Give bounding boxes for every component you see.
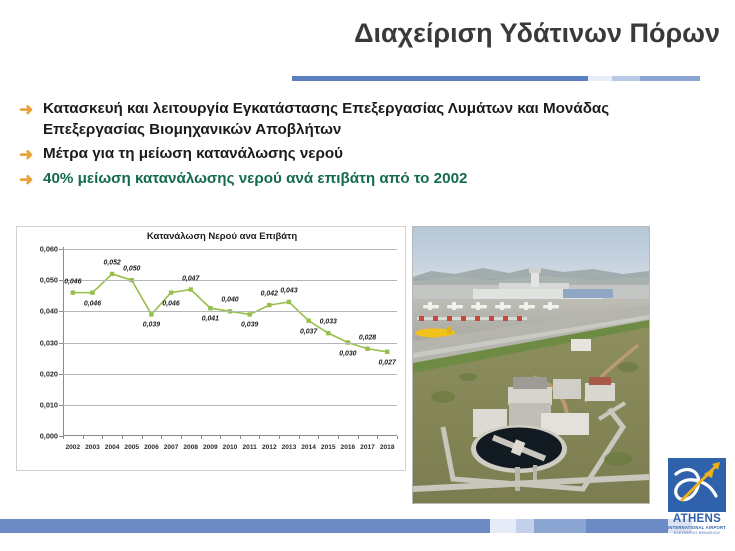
chart-gridline (63, 343, 397, 344)
chart-data-label: 0,050 (123, 266, 140, 273)
chart-y-tick-mark (59, 311, 63, 312)
chart-data-point (385, 350, 389, 354)
logo-line-eleftherios-venizelos: ΕΛΕΥΘΕΡΙΟΣ ΒΕΝΙΖΕΛΟΣ (668, 531, 726, 536)
chart-data-label: 0,039 (241, 322, 258, 329)
chart-x-tick-mark (181, 436, 182, 439)
chart-data-label: 0,037 (300, 328, 317, 335)
title-underline-rule (292, 76, 712, 81)
bullet-item-3: ➜ 40% μείωση κατανάλωσης νερού ανά επιβά… (16, 169, 666, 190)
chart-gridline (63, 311, 397, 312)
chart-gridline (63, 280, 397, 281)
chart-x-tick-label: 2003 (85, 444, 100, 451)
chart-y-tick-label: 0,030 (40, 338, 58, 347)
chart-data-point (169, 290, 173, 294)
chart-y-tick-mark (59, 249, 63, 250)
chart-x-tick-label: 2011 (242, 444, 256, 451)
bullet-list: ➜ Κατασκευή και λειτουργία Εγκατάστασης … (16, 99, 666, 194)
chart-x-tick-label: 2014 (301, 444, 316, 451)
chart-x-tick-mark (377, 436, 378, 439)
arrow-icon: ➜ (16, 99, 43, 120)
chart-x-tick-label: 2008 (183, 444, 198, 451)
chart-y-tick-label: 0,020 (40, 369, 58, 378)
chart-x-tick-label: 2016 (341, 444, 356, 451)
chart-data-label: 0,046 (84, 300, 101, 307)
chart-x-tick-mark (358, 436, 359, 439)
chart-x-tick-mark (220, 436, 221, 439)
chart-data-label: 0,042 (261, 291, 278, 298)
chart-x-tick-label: 2013 (282, 444, 297, 451)
bullet-item-2: ➜ Μέτρα για τη μείωση κατανάλωσης νερού (16, 144, 666, 165)
chart-x-tick-mark (83, 436, 84, 439)
arrow-icon: ➜ (16, 169, 43, 190)
footer-accent-bar (0, 519, 735, 533)
chart-data-point (365, 347, 369, 351)
chart-x-tick-label: 2012 (262, 444, 277, 451)
chart-x-tick-label: 2018 (380, 444, 395, 451)
slide-canvas: Διαχείριση Υδάτινων Πόρων ➜ Κατασκευή κα… (0, 0, 735, 551)
chart-data-point (71, 290, 75, 294)
chart-x-tick-label: 2015 (321, 444, 336, 451)
chart-x-tick-mark (142, 436, 143, 439)
chart-y-tick-label: 0,060 (40, 245, 58, 254)
chart-y-tick-label: 0,040 (40, 307, 58, 316)
chart-x-tick-mark (201, 436, 202, 439)
chart-y-tick-mark (59, 405, 63, 406)
chart-plot-area: 0,0600,0500,0400,0300,0200,0100,00020022… (63, 249, 397, 436)
chart-x-tick-mark (397, 436, 398, 439)
chart-data-point (287, 300, 291, 304)
chart-x-tick-mark (338, 436, 339, 439)
chart-x-tick-mark (161, 436, 162, 439)
chart-x-tick-label: 2005 (124, 444, 139, 451)
bullet-item-1-label: Κατασκευή και λειτουργία Εγκατάστασης Επ… (43, 99, 666, 140)
chart-data-label: 0,027 (379, 359, 396, 366)
chart-y-tick-label: 0,010 (40, 400, 58, 409)
chart-x-tick-mark (299, 436, 300, 439)
chart-data-label: 0,039 (143, 322, 160, 329)
chart-y-tick-mark (59, 343, 63, 344)
chart-x-tick-label: 2017 (360, 444, 375, 451)
chart-data-label: 0,046 (162, 300, 179, 307)
bullet-item-2-label: Μέτρα για τη μείωση κατανάλωσης νερού (43, 144, 343, 165)
aerial-photo (412, 226, 650, 504)
chart-x-tick-mark (279, 436, 280, 439)
chart-gridline (63, 249, 397, 250)
chart-x-tick-mark (102, 436, 103, 439)
chart-data-point (110, 272, 114, 276)
water-consumption-chart: Κατανάλωση Νερού ανα Επιβάτη 0,0600,0500… (16, 226, 406, 471)
chart-data-label: 0,046 (64, 278, 81, 285)
chart-data-point (149, 312, 153, 316)
chart-data-label: 0,030 (339, 350, 356, 357)
chart-data-point (189, 287, 193, 291)
chart-y-tick-mark (59, 374, 63, 375)
chart-data-label: 0,047 (182, 275, 199, 282)
chart-x-tick-mark (318, 436, 319, 439)
chart-x-tick-mark (240, 436, 241, 439)
chart-data-point (306, 318, 310, 322)
chart-x-tick-label: 2004 (105, 444, 120, 451)
chart-gridline (63, 405, 397, 406)
chart-data-label: 0,052 (103, 259, 120, 266)
logo-line-athens: ATHENS (668, 513, 726, 525)
chart-data-label: 0,041 (202, 316, 219, 323)
bullet-item-3-label: 40% μείωση κατανάλωσης νερού ανά επιβάτη… (43, 169, 467, 190)
chart-data-point (247, 312, 251, 316)
athens-airport-logo: ATHENS INTERNATIONAL AIRPORT ΕΛΕΥΘΕΡΙΟΣ … (668, 458, 726, 534)
chart-y-tick-label: 0,050 (40, 276, 58, 285)
arrow-icon: ➜ (16, 144, 43, 165)
chart-x-tick-mark (63, 436, 64, 439)
chart-data-label: 0,040 (221, 297, 238, 304)
chart-x-tick-mark (122, 436, 123, 439)
chart-y-tick-label: 0,000 (40, 432, 58, 441)
page-title: Διαχείριση Υδάτινων Πόρων (300, 18, 720, 49)
chart-x-tick-label: 2006 (144, 444, 159, 451)
chart-x-tick-mark (259, 436, 260, 439)
logo-text-block: ATHENS INTERNATIONAL AIRPORT ΕΛΕΥΘΕΡΙΟΣ … (668, 513, 726, 536)
chart-x-tick-label: 2007 (164, 444, 179, 451)
chart-gridline (63, 374, 397, 375)
chart-data-label: 0,043 (280, 287, 297, 294)
chart-data-point (267, 303, 271, 307)
chart-x-tick-label: 2002 (65, 444, 80, 451)
bullet-item-1: ➜ Κατασκευή και λειτουργία Εγκατάστασης … (16, 99, 666, 140)
chart-title: Κατανάλωση Νερού ανα Επιβάτη (17, 231, 405, 242)
aerial-photo-graphic (413, 227, 649, 503)
chart-data-point (90, 290, 94, 294)
chart-data-point (326, 331, 330, 335)
chart-y-tick-mark (59, 280, 63, 281)
chart-x-tick-label: 2009 (203, 444, 218, 451)
chart-data-point (208, 306, 212, 310)
chart-data-label: 0,033 (320, 319, 337, 326)
chart-data-label: 0,028 (359, 334, 376, 341)
logo-mark-icon (668, 458, 726, 512)
chart-x-tick-label: 2010 (223, 444, 238, 451)
